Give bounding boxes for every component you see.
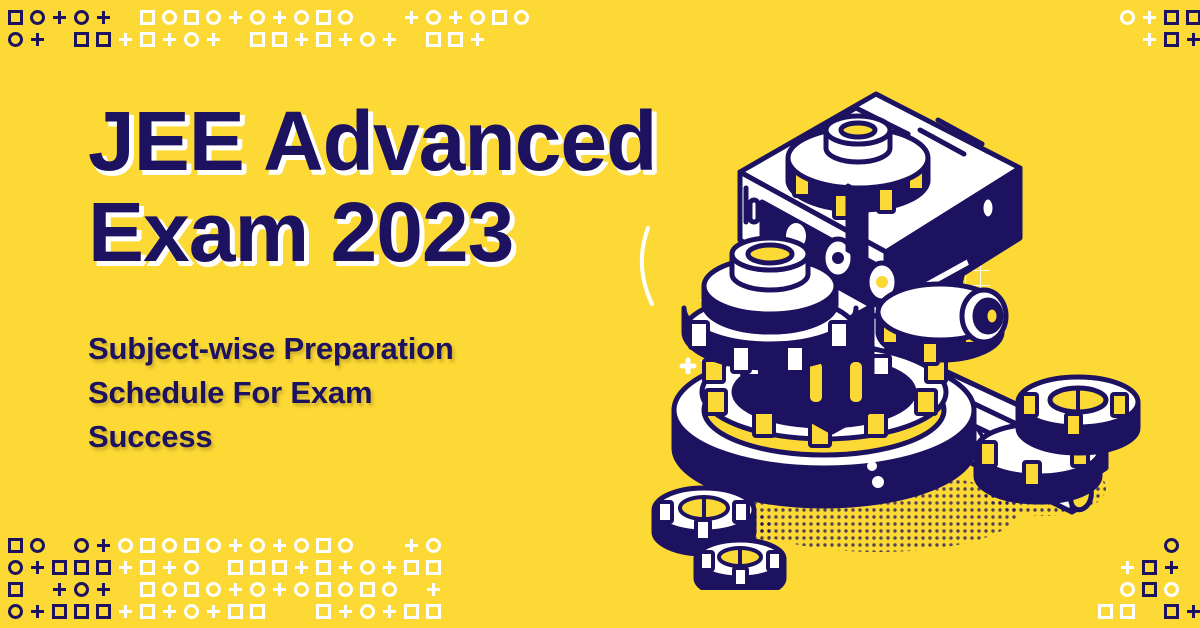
decor-empty-cell — [400, 28, 422, 50]
decor-empty-cell — [400, 578, 422, 600]
circle-glyph — [250, 10, 265, 25]
square-glyph — [404, 560, 419, 575]
square-glyph — [228, 560, 243, 575]
circle-glyph — [470, 10, 485, 25]
circle-glyph — [360, 560, 375, 575]
plus-glyph — [295, 33, 308, 46]
plus-glyph — [1187, 605, 1200, 618]
square-glyph — [184, 582, 199, 597]
plus-glyph — [295, 561, 308, 574]
plus-glyph — [53, 11, 66, 24]
square-glyph — [1164, 32, 1179, 47]
plus-glyph — [229, 583, 242, 596]
plus-glyph — [97, 583, 110, 596]
circle-glyph — [250, 582, 265, 597]
square-glyph — [74, 604, 89, 619]
square-glyph — [316, 32, 331, 47]
circle-glyph — [30, 10, 45, 25]
circle-glyph — [338, 538, 353, 553]
circle-glyph — [514, 10, 529, 25]
plus-glyph — [229, 539, 242, 552]
circle-glyph — [162, 538, 177, 553]
circle-glyph — [338, 582, 353, 597]
decor-empty-cell — [268, 600, 290, 622]
square-glyph — [96, 604, 111, 619]
plus-glyph — [163, 33, 176, 46]
decor-empty-cell — [510, 28, 532, 50]
circle-glyph — [1120, 10, 1135, 25]
plus-glyph — [1143, 33, 1156, 46]
decor-empty-cell — [114, 6, 136, 28]
plus-glyph — [273, 583, 286, 596]
decor-pattern-top-right — [1116, 6, 1200, 50]
square-glyph — [250, 32, 265, 47]
decor-empty-cell — [48, 534, 70, 556]
plus-glyph — [229, 11, 242, 24]
circle-glyph — [74, 10, 89, 25]
square-glyph — [184, 10, 199, 25]
circle-glyph — [426, 10, 441, 25]
square-glyph — [316, 604, 331, 619]
decor-empty-cell — [26, 578, 48, 600]
square-glyph — [52, 560, 67, 575]
square-glyph — [140, 604, 155, 619]
square-glyph — [426, 32, 441, 47]
plus-glyph — [97, 539, 110, 552]
circle-glyph — [8, 560, 23, 575]
circle-glyph — [294, 10, 309, 25]
square-glyph — [140, 10, 155, 25]
square-glyph — [492, 10, 507, 25]
square-glyph — [426, 604, 441, 619]
plus-glyph — [1187, 33, 1200, 46]
decor-empty-cell — [356, 6, 378, 28]
circle-glyph — [294, 538, 309, 553]
plus-glyph — [31, 605, 44, 618]
decor-pattern-top-left — [4, 6, 532, 50]
square-glyph — [96, 560, 111, 575]
plus-glyph — [273, 11, 286, 24]
plus-glyph — [339, 33, 352, 46]
circle-glyph — [382, 582, 397, 597]
square-glyph — [1164, 10, 1179, 25]
square-glyph — [8, 582, 23, 597]
square-glyph — [250, 560, 265, 575]
square-glyph — [316, 582, 331, 597]
square-glyph — [228, 604, 243, 619]
decor-empty-cell — [48, 28, 70, 50]
square-glyph — [360, 582, 375, 597]
plus-glyph — [339, 605, 352, 618]
plus-glyph — [207, 605, 220, 618]
headline-block: JEE Advanced Exam 2023 Subject-wise Prep… — [88, 96, 748, 459]
circle-glyph — [118, 538, 133, 553]
plus-glyph — [383, 33, 396, 46]
plus-glyph — [405, 11, 418, 24]
circle-glyph — [250, 538, 265, 553]
circle-glyph — [8, 604, 23, 619]
square-glyph — [404, 604, 419, 619]
square-glyph — [140, 560, 155, 575]
plus-glyph — [97, 11, 110, 24]
plus-glyph — [273, 539, 286, 552]
decor-empty-cell — [378, 534, 400, 556]
banner-canvas: JEE Advanced Exam 2023 Subject-wise Prep… — [0, 0, 1200, 628]
square-glyph — [1098, 604, 1113, 619]
circle-glyph — [162, 10, 177, 25]
circle-glyph — [8, 32, 23, 47]
plus-glyph — [1143, 11, 1156, 24]
plus-glyph — [207, 33, 220, 46]
plus-glyph — [31, 33, 44, 46]
square-glyph — [316, 560, 331, 575]
plus-glyph — [163, 605, 176, 618]
circle-glyph — [184, 32, 199, 47]
plus-glyph — [31, 561, 44, 574]
plus-glyph — [449, 11, 462, 24]
square-glyph — [426, 560, 441, 575]
decor-empty-cell — [1116, 28, 1138, 50]
square-glyph — [1164, 604, 1179, 619]
square-glyph — [140, 582, 155, 597]
square-glyph — [52, 604, 67, 619]
square-glyph — [96, 32, 111, 47]
plus-glyph — [339, 561, 352, 574]
square-glyph — [140, 538, 155, 553]
decor-empty-cell — [356, 534, 378, 556]
circle-glyph — [74, 538, 89, 553]
plus-glyph — [119, 605, 132, 618]
circle-glyph — [206, 582, 221, 597]
circle-glyph — [426, 538, 441, 553]
page-title: JEE Advanced Exam 2023 — [88, 96, 748, 277]
decor-pattern-bottom-left — [4, 534, 444, 622]
square-glyph — [272, 560, 287, 575]
square-glyph — [1186, 10, 1200, 25]
circle-glyph — [294, 582, 309, 597]
square-glyph — [8, 538, 23, 553]
square-glyph — [448, 32, 463, 47]
decor-empty-cell — [488, 28, 510, 50]
circle-glyph — [206, 10, 221, 25]
square-glyph — [316, 538, 331, 553]
decor-empty-cell — [202, 556, 224, 578]
page-subtitle: Subject-wise Preparation Schedule For Ex… — [88, 327, 618, 459]
square-glyph — [74, 32, 89, 47]
square-glyph — [184, 538, 199, 553]
plus-glyph — [427, 583, 440, 596]
plus-glyph — [471, 33, 484, 46]
plus-glyph — [163, 561, 176, 574]
plus-glyph — [405, 539, 418, 552]
circle-glyph — [360, 604, 375, 619]
circle-glyph — [184, 560, 199, 575]
plus-glyph — [53, 583, 66, 596]
decor-empty-cell — [378, 6, 400, 28]
square-glyph — [1120, 604, 1135, 619]
circle-glyph — [162, 582, 177, 597]
decor-empty-cell — [224, 28, 246, 50]
circle-glyph — [206, 538, 221, 553]
circle-glyph — [360, 32, 375, 47]
decor-empty-cell — [290, 600, 312, 622]
square-glyph — [272, 32, 287, 47]
circle-glyph — [30, 538, 45, 553]
circle-glyph — [338, 10, 353, 25]
decor-empty-cell — [1138, 600, 1160, 622]
circle-glyph — [74, 582, 89, 597]
square-glyph — [74, 560, 89, 575]
square-glyph — [316, 10, 331, 25]
plus-glyph — [383, 605, 396, 618]
square-glyph — [8, 10, 23, 25]
plus-glyph — [119, 561, 132, 574]
decor-empty-cell — [114, 578, 136, 600]
square-glyph — [250, 604, 265, 619]
circle-glyph — [184, 604, 199, 619]
plus-glyph — [119, 33, 132, 46]
plus-glyph — [383, 561, 396, 574]
square-glyph — [140, 32, 155, 47]
